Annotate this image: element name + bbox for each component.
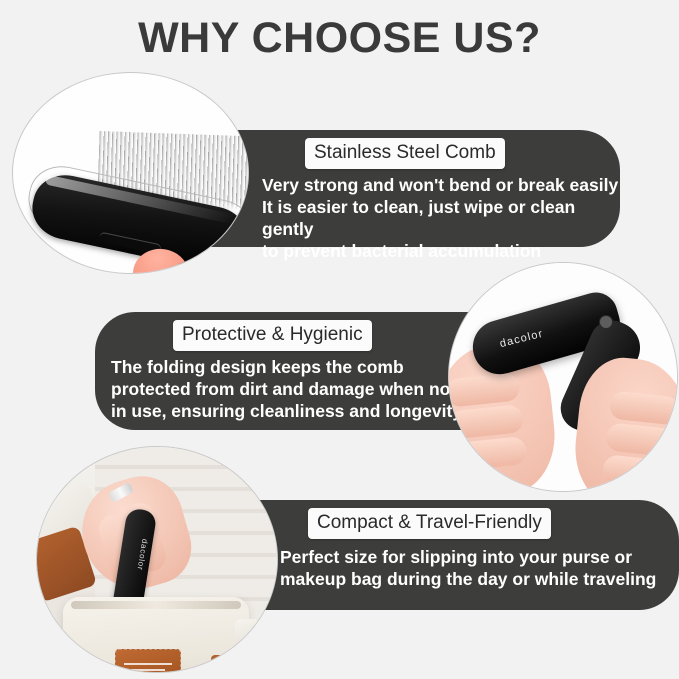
finger (602, 454, 675, 489)
feature-3-chip-label: Compact & Travel-Friendly (308, 508, 551, 539)
finger (451, 436, 528, 472)
feature-2-photo-hands-comb: dacolor (448, 262, 678, 492)
finger (605, 422, 678, 457)
finger (608, 391, 678, 426)
label-line (131, 669, 165, 671)
feature-3-photo-makeup-bag: dacolor (36, 446, 278, 673)
bag-zipper-tab (235, 619, 261, 655)
feature-1-chip-label: Stainless Steel Comb (305, 138, 505, 169)
comb-hinge-pin (599, 315, 613, 329)
label-line (124, 663, 172, 665)
finger (448, 372, 521, 408)
brand-logo-text: dacolor (136, 538, 150, 571)
makeup-bag (63, 597, 249, 673)
brand-logo-text: dacolor (499, 328, 545, 350)
finger (448, 404, 524, 440)
infographic-page: WHY CHOOSE US? Stainless Steel Comb Very… (0, 0, 679, 679)
feature-2-chip-label: Protective & Hygienic (173, 320, 372, 351)
bag-side-panel (211, 655, 245, 673)
feature-1-photo-comb (12, 72, 249, 274)
feature-panel-3: Compact & Travel-Friendly Perfect size f… (255, 500, 679, 610)
feature-3-body-text: Perfect size for slipping into your purs… (280, 546, 656, 590)
feature-1-body-text: Very strong and won't bend or break easi… (262, 174, 620, 262)
bag-leather-label (115, 649, 181, 673)
page-title: WHY CHOOSE US? (0, 14, 679, 63)
feature-2-body-text: The folding design keeps the comb protec… (111, 356, 462, 422)
